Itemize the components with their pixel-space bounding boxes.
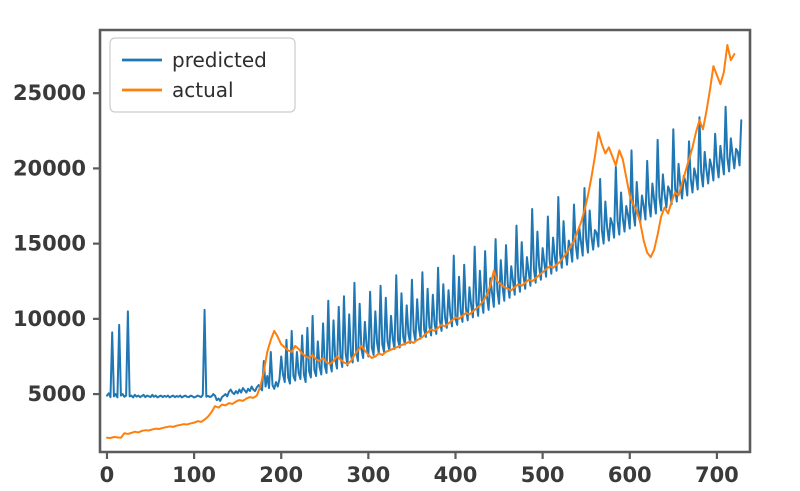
x-tick-label: 0 <box>100 463 115 487</box>
x-tick-label: 200 <box>259 463 303 487</box>
y-tick-label: 15000 <box>13 232 86 256</box>
x-tick-label: 700 <box>695 463 739 487</box>
x-tick-label: 100 <box>172 463 216 487</box>
x-tick-label: 500 <box>521 463 565 487</box>
y-tick-label: 5000 <box>28 382 86 406</box>
y-tick-label: 25000 <box>13 81 86 105</box>
legend-label-predicted: predicted <box>172 48 267 72</box>
line-chart: 5000100001500020000250000100200300400500… <box>0 0 800 491</box>
x-tick-label: 600 <box>608 463 652 487</box>
x-tick-label: 400 <box>434 463 478 487</box>
chart-legend: predictedactual <box>110 38 295 112</box>
y-tick-label: 20000 <box>13 156 86 180</box>
chart-figure: 5000100001500020000250000100200300400500… <box>0 0 800 491</box>
legend-label-actual: actual <box>172 78 234 102</box>
x-tick-label: 300 <box>346 463 390 487</box>
y-tick-label: 10000 <box>13 307 86 331</box>
